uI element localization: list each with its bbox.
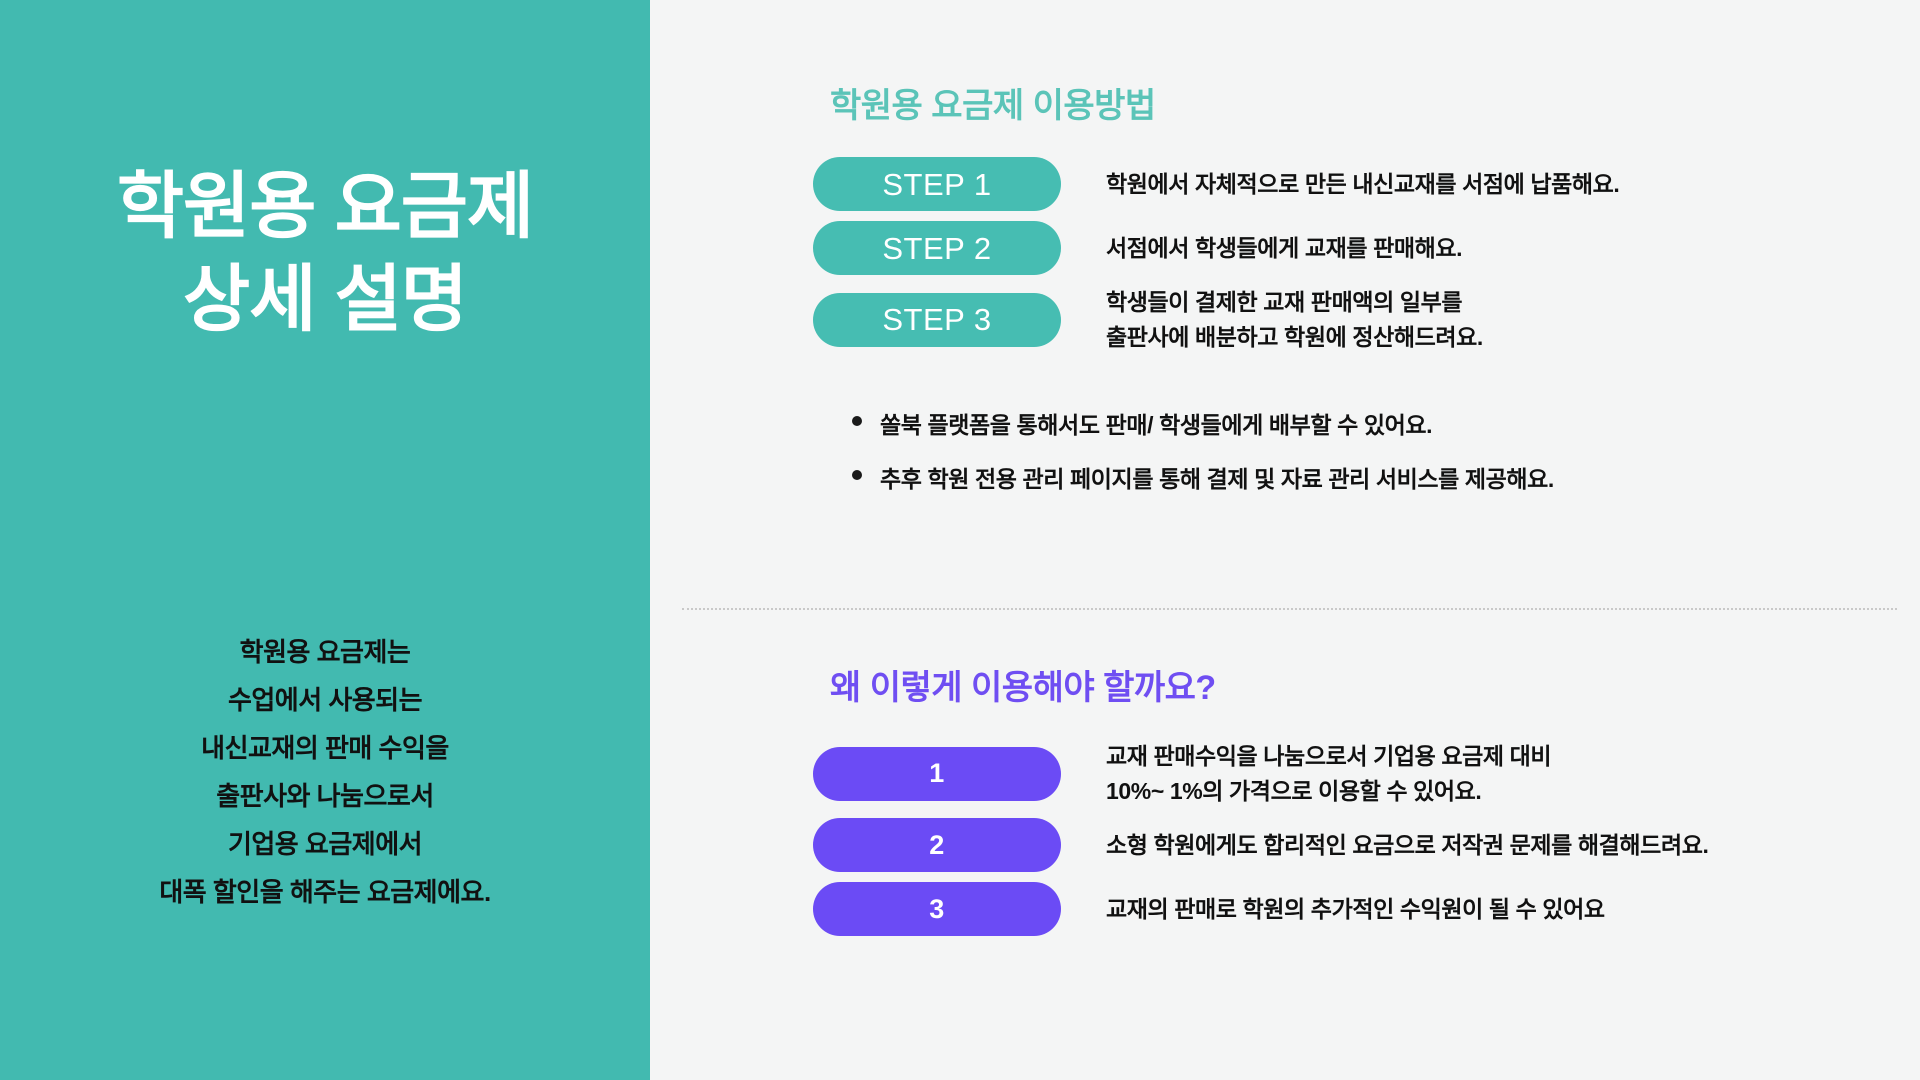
how-to-use-heading: 학원용 요금제 이용방법	[830, 78, 1920, 127]
step-badge-label: STEP 1	[882, 169, 991, 200]
list-item: 추후 학원 전용 관리 페이지를 통해 결제 및 자료 관리 서비스를 제공해요…	[850, 460, 1920, 494]
reason-description: 교재의 판매로 학원의 추가적인 수익원이 될 수 있어요	[1106, 892, 1605, 927]
slide-page: 학원용 요금제 상세 설명 학원용 요금제는 수업에서 사용되는 내신교재의 판…	[0, 0, 1920, 1080]
reason-description: 소형 학원에게도 합리적인 요금으로 저작권 문제를 해결해드려요.	[1106, 828, 1708, 863]
why-section: 왜 이렇게 이용해야 할까요? 1 교재 판매수익을 나눔으로서 기업용 요금제…	[650, 660, 1920, 946]
reason-badge-label: 3	[929, 896, 945, 923]
reason-badge-1: 1	[813, 747, 1061, 801]
reason-list: 1 교재 판매수익을 나눔으로서 기업용 요금제 대비 10%~ 1%의 가격으…	[650, 739, 1920, 936]
reason-badge-label: 2	[929, 832, 945, 859]
right-panel: 학원용 요금제 이용방법 STEP 1 학원에서 자체적으로 만든 내신교재를 …	[650, 0, 1920, 1080]
reason-badge-label: 1	[929, 760, 945, 787]
step-badge-label: STEP 3	[882, 304, 991, 335]
step-row: STEP 3 학생들이 결제한 교재 판매액의 일부를 출판사에 배분하고 학원…	[650, 285, 1920, 354]
step-description: 학원에서 자체적으로 만든 내신교재를 서점에 납품해요.	[1106, 167, 1619, 202]
step-row: STEP 1 학원에서 자체적으로 만든 내신교재를 서점에 납품해요.	[650, 157, 1920, 211]
step-badge-2: STEP 2	[813, 221, 1061, 275]
section-divider	[682, 608, 1897, 610]
step-row: STEP 2 서점에서 학생들에게 교재를 판매해요.	[650, 221, 1920, 275]
reason-row: 3 교재의 판매로 학원의 추가적인 수익원이 될 수 있어요	[650, 882, 1920, 936]
step-badge-label: STEP 2	[882, 233, 991, 264]
left-panel-description: 학원용 요금제는 수업에서 사용되는 내신교재의 판매 수익을 출판사와 나눔으…	[0, 628, 650, 917]
reason-badge-2: 2	[813, 818, 1061, 872]
reason-row: 2 소형 학원에게도 합리적인 요금으로 저작권 문제를 해결해드려요.	[650, 818, 1920, 872]
reason-description: 교재 판매수익을 나눔으로서 기업용 요금제 대비 10%~ 1%의 가격으로 …	[1106, 739, 1551, 808]
why-section-heading: 왜 이렇게 이용해야 할까요?	[830, 660, 1920, 709]
step-description: 학생들이 결제한 교재 판매액의 일부를 출판사에 배분하고 학원에 정산해드려…	[1106, 285, 1483, 354]
how-to-use-section: 학원용 요금제 이용방법 STEP 1 학원에서 자체적으로 만든 내신교재를 …	[650, 78, 1920, 514]
left-panel: 학원용 요금제 상세 설명 학원용 요금제는 수업에서 사용되는 내신교재의 판…	[0, 0, 650, 1080]
step-description: 서점에서 학생들에게 교재를 판매해요.	[1106, 231, 1462, 266]
list-item: 쏠북 플랫폼을 통해서도 판매/ 학생들에게 배부할 수 있어요.	[850, 406, 1920, 440]
step-list: STEP 1 학원에서 자체적으로 만든 내신교재를 서점에 납품해요. STE…	[650, 157, 1920, 354]
notes-list: 쏠북 플랫폼을 통해서도 판매/ 학생들에게 배부할 수 있어요. 추후 학원 …	[850, 406, 1920, 494]
reason-row: 1 교재 판매수익을 나눔으로서 기업용 요금제 대비 10%~ 1%의 가격으…	[650, 739, 1920, 808]
reason-badge-3: 3	[813, 882, 1061, 936]
step-badge-3: STEP 3	[813, 293, 1061, 347]
step-badge-1: STEP 1	[813, 157, 1061, 211]
page-title: 학원용 요금제 상세 설명	[0, 160, 650, 347]
